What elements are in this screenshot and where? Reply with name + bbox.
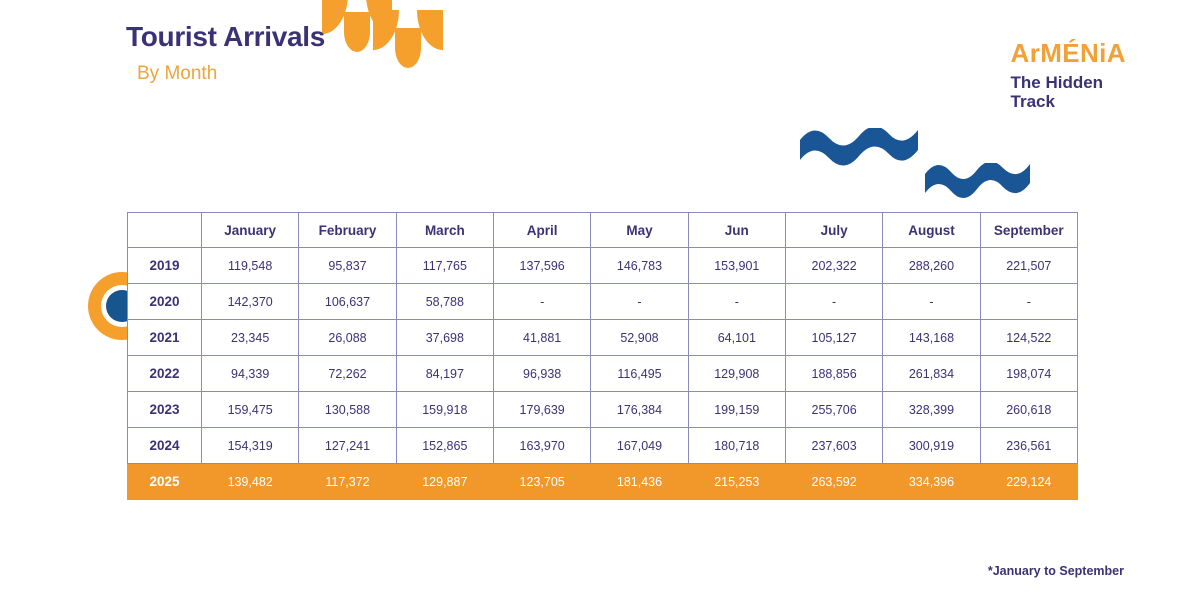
cell-2022-july: 188,856 <box>785 356 882 392</box>
column-header-may: May <box>591 213 688 248</box>
cell-2023-january: 159,475 <box>202 392 299 428</box>
row-header-2021: 2021 <box>128 320 202 356</box>
table-row: 2024154,319127,241152,865163,970167,0491… <box>128 428 1078 464</box>
row-header-2024: 2024 <box>128 428 202 464</box>
cell-2024-september: 236,561 <box>980 428 1077 464</box>
bird-icon <box>373 10 443 68</box>
cell-2020-march: 58,788 <box>396 284 493 320</box>
cell-2021-august: 143,168 <box>883 320 980 356</box>
column-header-july: July <box>785 213 882 248</box>
cell-2023-jun: 199,159 <box>688 392 785 428</box>
cell-2020-jun: - <box>688 284 785 320</box>
cell-2025-january: 139,482 <box>202 464 299 500</box>
cell-2025-may: 181,436 <box>591 464 688 500</box>
page-title: Tourist Arrivals <box>126 22 325 53</box>
row-header-2019: 2019 <box>128 248 202 284</box>
cell-2022-february: 72,262 <box>299 356 396 392</box>
column-header-march: March <box>396 213 493 248</box>
cell-2025-august: 334,396 <box>883 464 980 500</box>
table-header: JanuaryFebruaryMarchAprilMayJunJulyAugus… <box>128 213 1078 248</box>
cell-2019-january: 119,548 <box>202 248 299 284</box>
brand-logo: ArMÉNiA The Hidden Track <box>1011 40 1126 111</box>
cell-2023-may: 176,384 <box>591 392 688 428</box>
cell-2019-may: 146,783 <box>591 248 688 284</box>
cell-2022-august: 261,834 <box>883 356 980 392</box>
cell-2019-jun: 153,901 <box>688 248 785 284</box>
cell-2025-march: 129,887 <box>396 464 493 500</box>
cell-2022-january: 94,339 <box>202 356 299 392</box>
cell-2022-march: 84,197 <box>396 356 493 392</box>
cell-2022-may: 116,495 <box>591 356 688 392</box>
cell-2019-august: 288,260 <box>883 248 980 284</box>
table-row: 202294,33972,26284,19796,938116,495129,9… <box>128 356 1078 392</box>
cell-2023-april: 179,639 <box>493 392 590 428</box>
cell-2021-february: 26,088 <box>299 320 396 356</box>
cell-2023-august: 328,399 <box>883 392 980 428</box>
column-header-jun: Jun <box>688 213 785 248</box>
cell-2019-july: 202,322 <box>785 248 882 284</box>
cell-2025-september: 229,124 <box>980 464 1077 500</box>
cell-2021-september: 124,522 <box>980 320 1077 356</box>
brand-tagline: The Hidden Track <box>1011 73 1126 111</box>
row-header-2022: 2022 <box>128 356 202 392</box>
zigzag-wave-icon <box>925 163 1030 203</box>
cell-2024-march: 152,865 <box>396 428 493 464</box>
cell-2022-april: 96,938 <box>493 356 590 392</box>
title-block: Tourist Arrivals By Month <box>126 22 325 85</box>
table-row: 2025139,482117,372129,887123,705181,4362… <box>128 464 1078 500</box>
cell-2024-april: 163,970 <box>493 428 590 464</box>
cell-2019-february: 95,837 <box>299 248 396 284</box>
cell-2021-january: 23,345 <box>202 320 299 356</box>
cell-2024-january: 154,319 <box>202 428 299 464</box>
zigzag-wave-icon <box>800 128 918 168</box>
column-header-august: August <box>883 213 980 248</box>
cell-2024-august: 300,919 <box>883 428 980 464</box>
column-header-april: April <box>493 213 590 248</box>
table-row: 2023159,475130,588159,918179,639176,3841… <box>128 392 1078 428</box>
cell-2020-may: - <box>591 284 688 320</box>
cell-2020-february: 106,637 <box>299 284 396 320</box>
cell-2021-may: 52,908 <box>591 320 688 356</box>
cell-2020-april: - <box>493 284 590 320</box>
row-header-2020: 2020 <box>128 284 202 320</box>
cell-2020-january: 142,370 <box>202 284 299 320</box>
cell-2024-may: 167,049 <box>591 428 688 464</box>
cell-2022-september: 198,074 <box>980 356 1077 392</box>
cell-2025-jun: 215,253 <box>688 464 785 500</box>
cell-2022-jun: 129,908 <box>688 356 785 392</box>
cell-2021-jun: 64,101 <box>688 320 785 356</box>
table-corner-cell <box>128 213 202 248</box>
cell-2024-jun: 180,718 <box>688 428 785 464</box>
cell-2019-september: 221,507 <box>980 248 1077 284</box>
row-header-2023: 2023 <box>128 392 202 428</box>
cell-2021-april: 41,881 <box>493 320 590 356</box>
page-subtitle: By Month <box>137 64 325 85</box>
table-body: 2019119,54895,837117,765137,596146,78315… <box>128 248 1078 500</box>
table-row: 202123,34526,08837,69841,88152,90864,101… <box>128 320 1078 356</box>
cell-2025-july: 263,592 <box>785 464 882 500</box>
footnote: *January to September <box>988 564 1124 578</box>
cell-2025-february: 117,372 <box>299 464 396 500</box>
cell-2019-april: 137,596 <box>493 248 590 284</box>
cell-2023-september: 260,618 <box>980 392 1077 428</box>
cell-2023-february: 130,588 <box>299 392 396 428</box>
cell-2019-march: 117,765 <box>396 248 493 284</box>
cell-2023-march: 159,918 <box>396 392 493 428</box>
tourist-arrivals-table: JanuaryFebruaryMarchAprilMayJunJulyAugus… <box>127 212 1078 500</box>
column-header-september: September <box>980 213 1077 248</box>
cell-2020-august: - <box>883 284 980 320</box>
cell-2020-september: - <box>980 284 1077 320</box>
cell-2020-july: - <box>785 284 882 320</box>
cell-2024-july: 237,603 <box>785 428 882 464</box>
row-header-2025: 2025 <box>128 464 202 500</box>
column-header-february: February <box>299 213 396 248</box>
column-header-january: January <box>202 213 299 248</box>
table-header-row: JanuaryFebruaryMarchAprilMayJunJulyAugus… <box>128 213 1078 248</box>
table-row: 2019119,54895,837117,765137,596146,78315… <box>128 248 1078 284</box>
bird-body <box>344 12 370 52</box>
cell-2024-february: 127,241 <box>299 428 396 464</box>
cell-2021-july: 105,127 <box>785 320 882 356</box>
cell-2025-april: 123,705 <box>493 464 590 500</box>
bird-body <box>395 28 421 68</box>
cell-2021-march: 37,698 <box>396 320 493 356</box>
arrivals-table-container: JanuaryFebruaryMarchAprilMayJunJulyAugus… <box>127 212 1077 500</box>
table-row: 2020142,370106,63758,788------ <box>128 284 1078 320</box>
brand-name: ArMÉNiA <box>1011 40 1126 66</box>
cell-2023-july: 255,706 <box>785 392 882 428</box>
